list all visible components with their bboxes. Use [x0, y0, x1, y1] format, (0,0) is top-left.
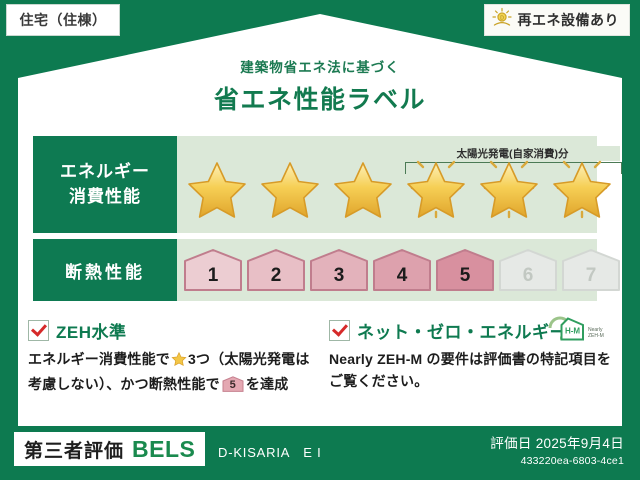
- building-type-label: 住宅（住棟）: [20, 10, 107, 30]
- energy-performance-row: エネルギー 消費性能 太陽光発電(自家消費)分: [33, 136, 597, 233]
- star-6: [548, 148, 617, 222]
- label-title-block: 建築物省エネ法に基づく 省エネ性能ラベル: [0, 56, 640, 116]
- energy-label-root: 住宅（住棟） D 再エネ設備あり 建築物省エネ法に基づく 省エネ性能ラベル: [0, 0, 640, 480]
- inline-insulation-badge: 5: [222, 376, 244, 392]
- svg-text:D: D: [500, 15, 504, 21]
- note-zeh-header: ZEH水準: [28, 318, 311, 343]
- bels-en-label: BELS: [132, 436, 195, 463]
- insulation-badge-value: 5: [460, 265, 471, 292]
- insulation-badge-value: 2: [271, 265, 282, 292]
- note-zeh-text-before: エネルギー消費性能で: [28, 351, 170, 367]
- zeh-m-logo-icon: H-M Nearly ZEH-M: [546, 314, 608, 349]
- building-name: D-KISARIA E I: [218, 442, 322, 461]
- sun-icon: D: [491, 7, 513, 34]
- energy-star-rating: [183, 136, 617, 233]
- note-zeh-title: ZEH水準: [56, 318, 127, 343]
- note-zeh-body: エネルギー消費性能で3つ（太陽光発電は考慮しない）、かつ断熱性能で5を達成: [28, 349, 311, 395]
- insulation-row-label: 断熱性能: [33, 239, 177, 301]
- insulation-badge-value: 4: [397, 265, 408, 292]
- zeh-m-logo-caption-2: ZEH-M: [588, 333, 604, 339]
- check-icon: [28, 320, 49, 341]
- star-3: [329, 148, 398, 222]
- check-icon: [329, 320, 350, 341]
- insulation-badge-1: 1: [183, 248, 243, 292]
- note-zeh-text-end: を達成: [246, 376, 289, 392]
- insulation-badge-3: 3: [309, 248, 369, 292]
- title-main: 省エネ性能ラベル: [0, 80, 640, 116]
- inline-star-icon: [171, 351, 187, 374]
- notes-section: ZEH水準 エネルギー消費性能で3つ（太陽光発電は考慮しない）、かつ断熱性能で5…: [28, 318, 612, 418]
- insulation-badge-4: 4: [372, 248, 432, 292]
- star-1: [183, 148, 252, 222]
- insulation-level-badges: 1 2 3 4 5 6 7: [183, 239, 621, 301]
- insulation-badge-6: 6: [498, 248, 558, 292]
- insulation-badge-value: 3: [334, 265, 345, 292]
- note-nze-header: ネット・ゼロ・エネルギー H-M Nearly ZEH-M: [329, 318, 612, 343]
- star-4: [402, 148, 471, 222]
- note-nze-body: Nearly ZEH-M の要件は評価書の特記項目をご覧ください。: [329, 349, 612, 392]
- note-nze-title: ネット・ゼロ・エネルギー: [357, 318, 567, 343]
- insulation-performance-row: 断熱性能 1 2 3 4 5 6: [33, 239, 597, 301]
- insulation-row-label-text: 断熱性能: [65, 258, 145, 283]
- note-net-zero-energy: ネット・ゼロ・エネルギー H-M Nearly ZEH-M Nearly ZEH…: [329, 318, 612, 418]
- footer-bar: 第三者評価 BELS D-KISARIA E I 評価日 2025年9月4日 4…: [0, 426, 640, 480]
- insulation-badge-5: 5: [435, 248, 495, 292]
- star-5: [475, 148, 544, 222]
- evaluation-date: 評価日 2025年9月4日: [490, 432, 624, 452]
- bels-jp-label: 第三者評価: [24, 436, 124, 463]
- insulation-badge-value: 1: [208, 265, 219, 292]
- insulation-badge-value: 7: [586, 265, 597, 292]
- renewable-energy-badge: D 再エネ設備あり: [484, 4, 631, 36]
- energy-row-label-line2: 消費性能: [69, 185, 141, 210]
- evaluation-id: 433220ea-6803-4ce1: [490, 455, 624, 467]
- insulation-badge-2: 2: [246, 248, 306, 292]
- zeh-m-logo-text: H-M: [565, 327, 580, 336]
- energy-row-label: エネルギー 消費性能: [33, 136, 177, 233]
- renewable-energy-label: 再エネ設備あり: [518, 10, 620, 30]
- star-2: [256, 148, 325, 222]
- building-type-tag: 住宅（住棟）: [6, 4, 120, 36]
- evaluation-info: 評価日 2025年9月4日 433220ea-6803-4ce1: [490, 432, 624, 467]
- inline-insulation-badge-value: 5: [222, 377, 244, 394]
- note-zeh-standard: ZEH水準 エネルギー消費性能で3つ（太陽光発電は考慮しない）、かつ断熱性能で5…: [28, 318, 311, 418]
- title-subtitle: 建築物省エネ法に基づく: [0, 56, 640, 76]
- insulation-badge-value: 6: [523, 265, 534, 292]
- insulation-badge-7: 7: [561, 248, 621, 292]
- bels-logo-box: 第三者評価 BELS: [14, 432, 205, 466]
- energy-row-label-line1: エネルギー: [60, 160, 150, 185]
